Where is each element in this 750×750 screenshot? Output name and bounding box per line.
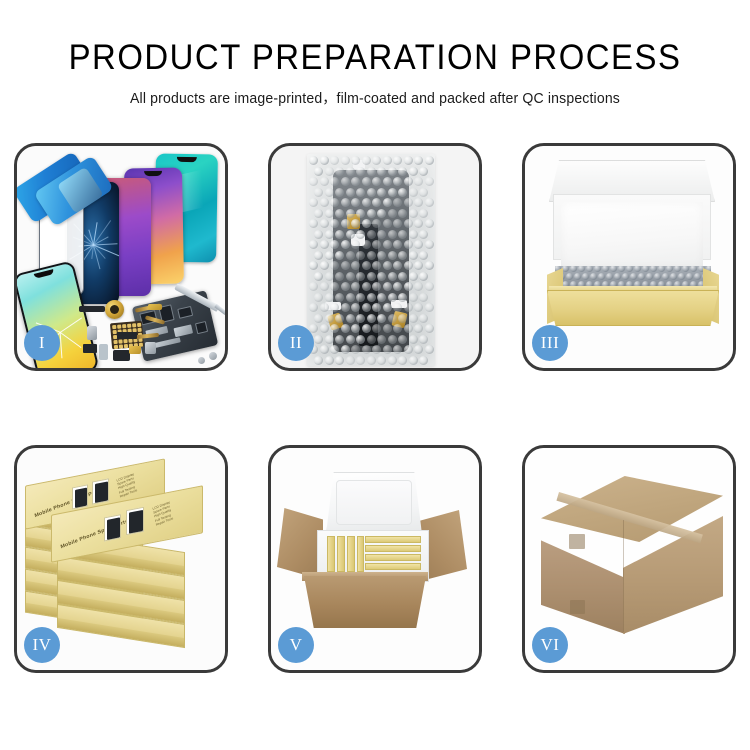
screw (209, 352, 217, 360)
step-panel-6: VI (522, 445, 736, 673)
bubble-wrap-bag (307, 154, 435, 366)
step-panel-5: V (268, 445, 482, 673)
carton-tab (570, 600, 585, 614)
camera-lens (99, 344, 108, 360)
step-panel-1: I (14, 143, 228, 371)
battery-connector (113, 350, 130, 361)
box-artwork-screen (72, 484, 88, 509)
carton-tab (569, 534, 585, 549)
box-artwork-screen (92, 478, 109, 504)
step-badge-6: VI (532, 627, 568, 663)
antenna-strip (117, 332, 137, 339)
carton-edge-seam (623, 520, 624, 632)
earpiece-mesh (79, 306, 105, 312)
box-artwork-screen (104, 514, 121, 541)
foam-sheet (561, 202, 703, 268)
page-title: PRODUCT PREPARATION PROCESS (23, 40, 728, 77)
vibration-motor (87, 326, 97, 340)
sim-tray (83, 344, 97, 353)
step-badge-1: I (24, 325, 60, 361)
yellow-boxes-inside (325, 534, 421, 576)
step-badge-3: III (532, 325, 568, 361)
header: PRODUCT PREPARATION PROCESS All products… (0, 0, 750, 108)
step-badge-4: IV (24, 627, 60, 663)
box-artwork-screen (126, 507, 144, 535)
foam-box-lid (326, 472, 422, 534)
process-steps-grid: I II (14, 143, 736, 686)
page-subtitle: All products are image-printed，film-coat… (6, 87, 745, 108)
product-process-infographic: PRODUCT PREPARATION PROCESS All products… (0, 0, 750, 750)
step-badge-2: II (278, 325, 314, 361)
metal-bracket (145, 342, 156, 354)
gold-flex-connector (148, 304, 162, 310)
step-panel-4: Mobile Phone Spare Parts LCD Display Spa… (14, 445, 228, 673)
step-panel-3: III (522, 143, 736, 371)
speaker-component (105, 300, 124, 319)
screw (198, 357, 205, 364)
step-panel-2: II (268, 143, 482, 371)
carton-body (304, 576, 426, 628)
kraft-box-front (547, 290, 719, 326)
step-badge-5: V (278, 627, 314, 663)
gold-contact (129, 346, 141, 354)
